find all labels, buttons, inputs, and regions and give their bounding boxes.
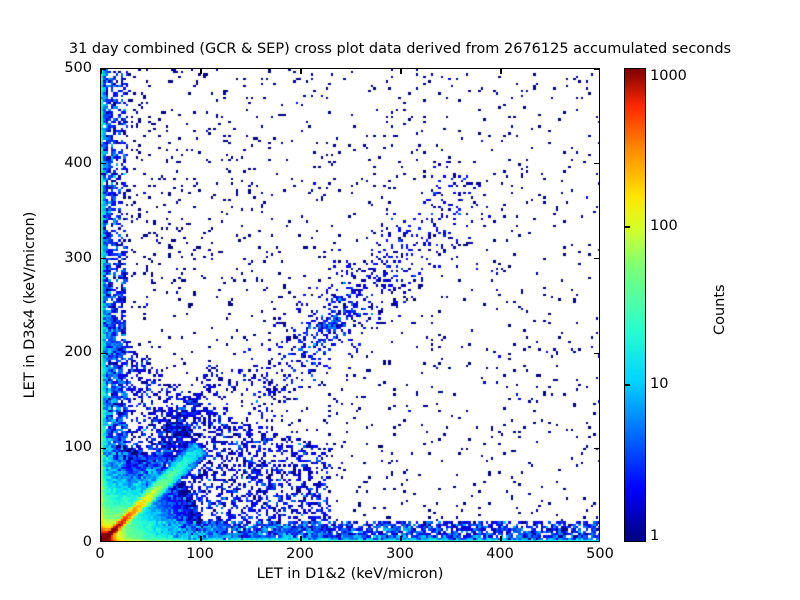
figure-canvas: 31 day combined (GCR & SEP) cross plot d… — [0, 0, 800, 600]
x-tick-label: 100 — [186, 546, 214, 562]
y-tick-mark — [594, 163, 599, 164]
y-tick-mark — [101, 163, 106, 164]
colorbar-label: Counts — [712, 284, 728, 335]
colorbar-tick-mark — [625, 384, 630, 385]
x-tick-mark — [100, 536, 101, 541]
colorbar-gradient — [625, 69, 645, 541]
x-axis-label: LET in D1&2 (keV/micron) — [100, 566, 600, 582]
x-tick-mark — [400, 69, 401, 74]
colorbar-tick-mark — [625, 226, 630, 227]
x-tick-mark — [300, 69, 301, 74]
y-axis-label: LET in D3&4 (keV/micron) — [22, 68, 38, 542]
colorbar-tick-label: 1 — [650, 528, 659, 544]
x-tick-mark — [500, 536, 501, 541]
x-tick-mark — [200, 536, 201, 541]
y-tick-label: 500 — [30, 60, 92, 76]
x-tick-mark — [400, 536, 401, 541]
y-tick-mark — [101, 258, 106, 259]
y-tick-label: 100 — [30, 439, 92, 455]
colorbar-tick-label: 100 — [650, 218, 678, 234]
density-heatmap — [101, 69, 600, 542]
x-tick-mark — [500, 69, 501, 74]
y-tick-mark — [594, 258, 599, 259]
y-tick-label: 0 — [30, 534, 92, 550]
x-tick-mark — [300, 536, 301, 541]
y-tick-label: 200 — [30, 344, 92, 360]
plot-area[interactable] — [100, 68, 600, 542]
title-line-1: 31 day combined (GCR & SEP) cross plot d… — [0, 41, 800, 59]
y-tick-mark — [594, 68, 599, 69]
x-tick-mark — [200, 69, 201, 74]
x-tick-label: 0 — [95, 546, 104, 562]
y-tick-mark — [594, 353, 599, 354]
x-tick-label: 200 — [286, 546, 314, 562]
y-tick-mark — [101, 353, 106, 354]
x-tick-mark — [100, 69, 101, 74]
colorbar[interactable] — [624, 68, 646, 542]
x-tick-label: 400 — [486, 546, 514, 562]
x-tick-label: 300 — [386, 546, 414, 562]
y-tick-mark — [594, 448, 599, 449]
y-tick-mark — [101, 68, 106, 69]
y-tick-label: 300 — [30, 250, 92, 266]
y-tick-mark — [101, 448, 106, 449]
colorbar-tick-label: 1000 — [650, 68, 687, 84]
x-tick-label: 500 — [586, 546, 614, 562]
colorbar-tick-label: 10 — [650, 376, 668, 392]
y-tick-label: 400 — [30, 155, 92, 171]
